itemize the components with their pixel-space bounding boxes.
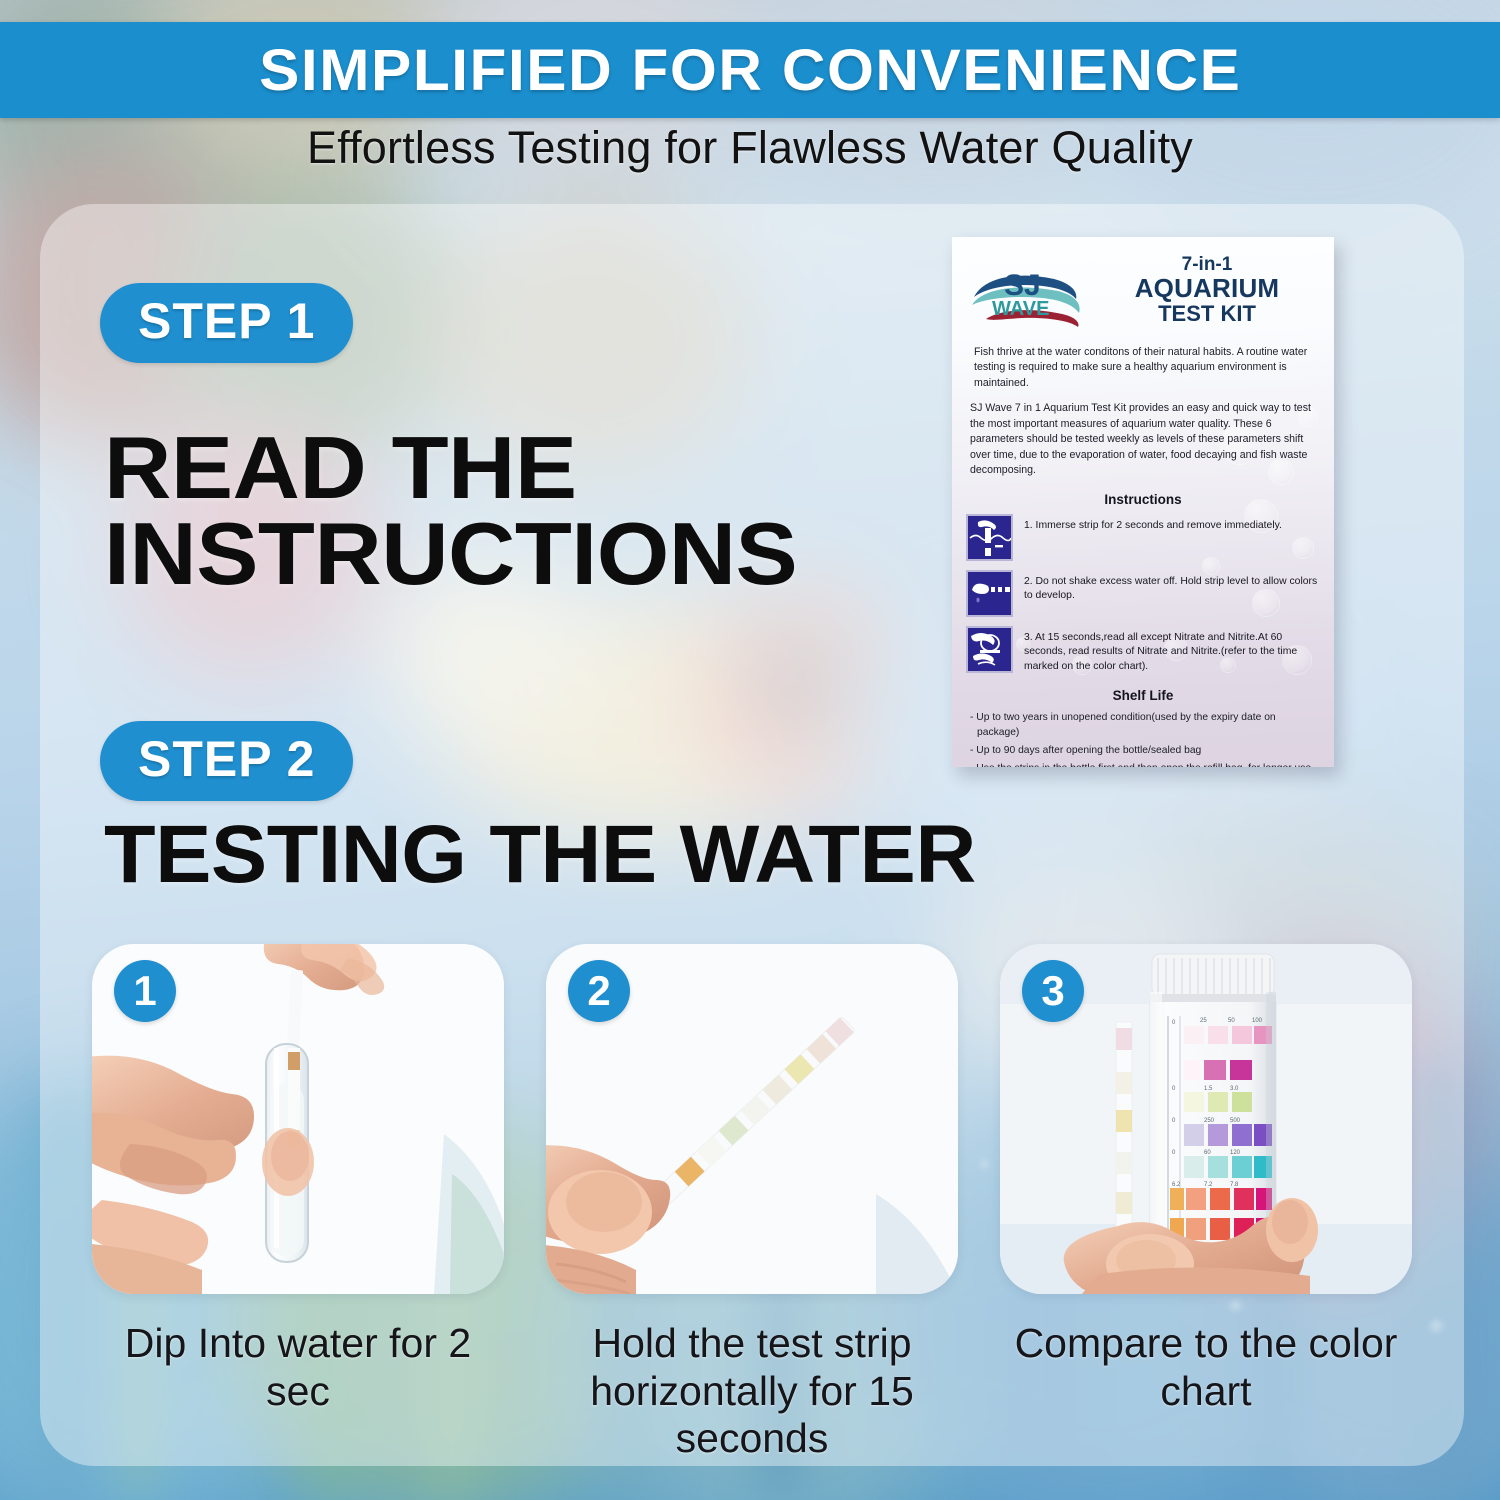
leaflet-title-line-2: AQUARIUM — [1094, 275, 1320, 302]
instruction-text: 2. Do not shake excess water off. Hold s… — [1024, 570, 1320, 605]
instruction-row: 3. At 15 seconds,read all except Nitrate… — [966, 626, 1320, 675]
header-bar: SIMPLIFIED FOR CONVENIENCE — [0, 22, 1500, 118]
svg-text:120: 120 — [1230, 1150, 1241, 1156]
svg-text:100: 100 — [1252, 1018, 1263, 1024]
caption-2: Hold the test strip horizontally for 15 … — [546, 1320, 958, 1463]
svg-text:3.0: 3.0 — [1230, 1086, 1239, 1092]
svg-text:50: 50 — [1228, 1018, 1235, 1024]
svg-text:25: 25 — [1200, 1018, 1207, 1024]
photo-card-2: 2 — [546, 944, 958, 1294]
svg-text:1.5: 1.5 — [1204, 1086, 1213, 1092]
card-2-number-badge: 2 — [568, 960, 630, 1022]
shelf-life-item: - Up to two years in unopened condition(… — [968, 710, 1320, 740]
instructions-heading: Instructions — [966, 492, 1320, 507]
shelf-life-list: - Up to two years in unopened condition(… — [966, 710, 1320, 767]
immerse-strip-icon — [966, 514, 1013, 561]
leaflet-title-line-3: TEST KIT — [1094, 302, 1320, 326]
leaflet-header: SJ WAVE 7-in-1 AQUARIUM TEST KIT — [966, 253, 1320, 335]
svg-text:500: 500 — [1230, 1118, 1241, 1124]
instruction-text: 3. At 15 seconds,read all except Nitrate… — [1024, 626, 1320, 675]
step-2-heading: TESTING THE WATER — [104, 815, 976, 895]
step-2-badge: STEP 2 — [100, 721, 353, 801]
photo-card-1: 1 — [92, 944, 504, 1294]
card-1-number-badge: 1 — [114, 960, 176, 1022]
step-1-heading: READ THE INSTRUCTIONS — [104, 425, 797, 597]
hold-strip-level-icon — [966, 570, 1013, 617]
leaflet-paragraph-1: Fish thrive at the water conditons of th… — [966, 345, 1320, 391]
shelf-life-item: - Use the strips in the bottle first and… — [968, 761, 1320, 767]
leaflet-paragraph-2: SJ Wave 7 in 1 Aquarium Test Kit provide… — [966, 401, 1320, 478]
instruction-row: 2. Do not shake excess water off. Hold s… — [966, 570, 1320, 617]
svg-text:6.2: 6.2 — [1172, 1182, 1181, 1188]
leaflet-title-line-1: 7-in-1 — [1094, 255, 1320, 275]
page-title: SIMPLIFIED FOR CONVENIENCE — [259, 37, 1241, 104]
step-2-heading-line-1: TESTING THE WATER — [104, 815, 976, 895]
photo-card-row: 1 — [92, 944, 1412, 1294]
step-1-badge: STEP 1 — [100, 283, 353, 363]
step-1-heading-line-2: INSTRUCTIONS — [104, 511, 797, 597]
sj-wave-logo: SJ WAVE — [966, 261, 1084, 331]
page-subtitle: Effortless Testing for Flawless Water Qu… — [0, 122, 1500, 174]
caption-row: Dip Into water for 2 sec Hold the test s… — [92, 1320, 1412, 1463]
instruction-row: 1. Immerse strip for 2 seconds and remov… — [966, 514, 1320, 561]
caption-3: Compare to the color chart — [1000, 1320, 1412, 1463]
shelf-life-heading: Shelf Life — [966, 688, 1320, 703]
instruction-text: 1. Immerse strip for 2 seconds and remov… — [1024, 514, 1282, 534]
shelf-life-item: - Up to 90 days after opening the bottle… — [968, 743, 1320, 758]
svg-text:7.8: 7.8 — [1230, 1182, 1239, 1188]
instruction-leaflet-card: SJ WAVE 7-in-1 AQUARIUM TEST KIT Fish th… — [952, 237, 1334, 767]
step-1-heading-line-1: READ THE — [104, 425, 797, 511]
card-3-number-badge: 3 — [1022, 960, 1084, 1022]
svg-text:7.2: 7.2 — [1204, 1182, 1213, 1188]
read-results-icon — [966, 626, 1013, 673]
photo-card-3: 3 — [1000, 944, 1412, 1294]
leaflet-title: 7-in-1 AQUARIUM TEST KIT — [1094, 253, 1320, 326]
product-infographic: SIMPLIFIED FOR CONVENIENCE Effortless Te… — [0, 0, 1500, 1500]
svg-text:250: 250 — [1204, 1118, 1215, 1124]
svg-text:60: 60 — [1204, 1150, 1211, 1156]
svg-text:WAVE: WAVE — [992, 298, 1049, 320]
caption-1: Dip Into water for 2 sec — [92, 1320, 504, 1463]
